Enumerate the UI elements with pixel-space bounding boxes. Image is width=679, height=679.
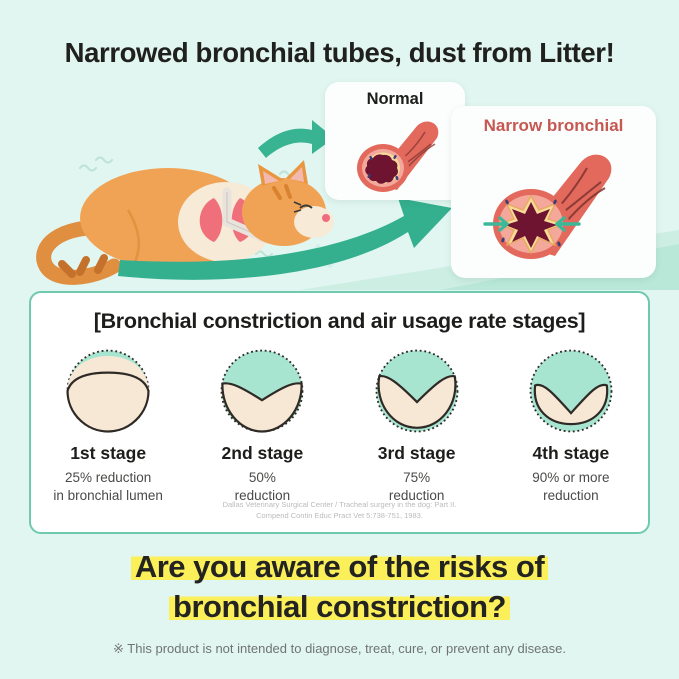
cta-block: Are you aware of the risks of bronchial … [0,547,679,628]
stage-item: 3rd stage 75%reduction [347,345,487,505]
cta-line-1-text: Are you aware of the risks of [131,549,548,584]
citation-line-2: Compend Contin Educ Pract Vet 5:738-751,… [31,510,648,522]
stages-panel: [Bronchial constriction and air usage ra… [29,291,650,534]
stage-2-lumen-icon [216,345,308,437]
narrow-tube-title: Narrow bronchial [451,116,656,136]
stage-item: 2nd stage 50%reduction [192,345,332,505]
stage-4-lumen-icon [525,345,617,437]
normal-tube-title: Normal [325,90,465,109]
cta-line-1: Are you aware of the risks of [0,547,679,587]
stage-item: 4th stage 90% or morereduction [501,345,641,505]
normal-bronchial-tube-icon [335,110,455,196]
normal-tube-card: Normal [325,82,465,200]
stage-item: 1st stage 25% reductionin bronchial lume… [38,345,178,505]
stages-panel-title: [Bronchial constriction and air usage ra… [31,309,648,334]
page-title: Narrowed bronchial tubes, dust from Litt… [0,37,679,69]
stage-3-lumen-icon [371,345,463,437]
stages-list: 1st stage 25% reductionin bronchial lume… [31,345,648,505]
infographic-root: Narrowed bronchial tubes, dust from Litt… [0,0,679,679]
stage-name: 1st stage [38,443,178,464]
cta-line-2-text: bronchial constriction? [169,589,510,624]
stage-name: 4th stage [501,443,641,464]
disclaimer: ※ This product is not intended to diagno… [0,641,679,657]
citation-line-1: Dallas Veterinary Surgical Center / Trac… [31,499,648,511]
citation: Dallas Veterinary Surgical Center / Trac… [31,499,648,522]
stage-name: 2nd stage [192,443,332,464]
narrow-bronchial-tube-icon [463,140,648,270]
stage-1-lumen-icon [62,345,154,437]
stage-name: 3rd stage [347,443,487,464]
narrow-tube-card: Narrow bronchial [451,106,656,278]
cta-line-2: bronchial constriction? [0,587,679,627]
